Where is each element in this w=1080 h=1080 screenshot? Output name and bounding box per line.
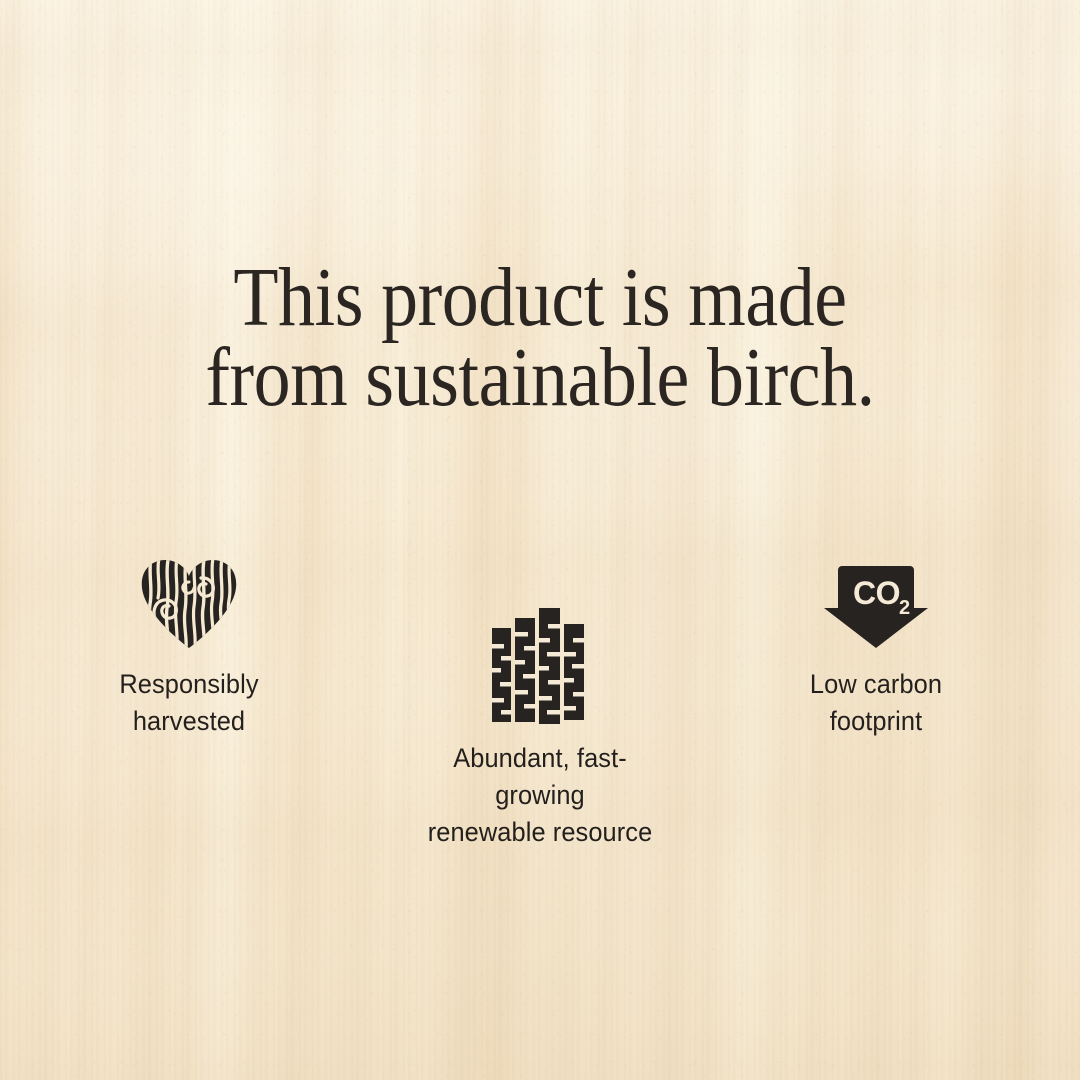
feature-responsibly-harvested: Responsibly harvested (64, 554, 314, 740)
feature-low-carbon-footprint: CO 2 Low carbon footprint (766, 554, 986, 740)
co2-down-arrow-icon: CO 2 (822, 564, 930, 650)
co2-label: CO (853, 575, 900, 611)
wood-grain-heart-icon (139, 558, 239, 650)
feature-caption: Low carbon footprint (773, 666, 980, 740)
icon-container: CO 2 (766, 554, 986, 650)
icon-container (405, 628, 675, 724)
feature-caption: Responsibly harvested (72, 666, 307, 740)
icon-container (64, 554, 314, 650)
feature-list: Responsibly harvested (0, 540, 1080, 860)
co2-subscript: 2 (899, 597, 910, 619)
headline: This product is made from sustainable bi… (65, 258, 1015, 418)
sustainability-badge-graphic: This product is made from sustainable bi… (0, 0, 1080, 1080)
birch-trunks-icon (490, 606, 590, 724)
feature-renewable-resource: Abundant, fast-growing renewable resourc… (405, 628, 675, 851)
feature-caption: Abundant, fast-growing renewable resourc… (413, 740, 667, 851)
